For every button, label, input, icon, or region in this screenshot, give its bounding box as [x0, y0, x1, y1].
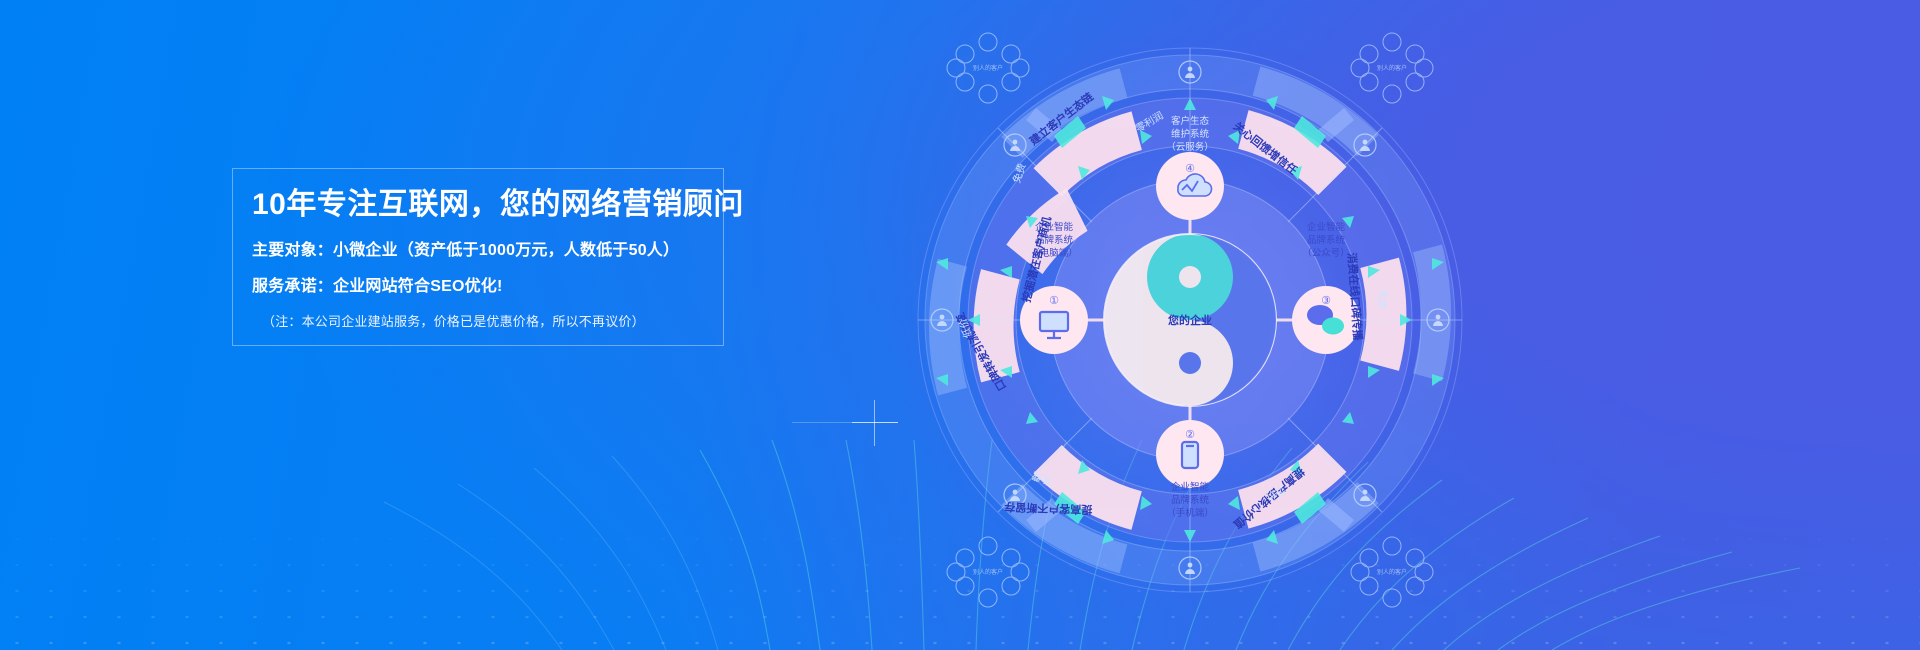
- svg-text:别人的客户: 别人的客户: [1377, 64, 1407, 72]
- target-audience-line: 主要对象：小微企业（资产低于1000万元，人数低于50人）: [252, 240, 722, 262]
- svg-text:③: ③: [1321, 295, 1331, 307]
- price-note: （注：本公司企业建站服务，价格已是优惠价格，所以不再议价）: [262, 313, 722, 331]
- svg-text:④: ④: [1185, 163, 1195, 175]
- promo-copy: 10年专注互联网，您的网络营销顾问 主要对象：小微企业（资产低于1000万元，人…: [252, 186, 722, 331]
- marketing-banner: ① ② ③ ④ 别人的客户: [0, 0, 1920, 650]
- service-promise-line: 服务承诺：企业网站符合SEO优化!: [252, 276, 722, 298]
- svg-text:别人的客户: 别人的客户: [973, 64, 1003, 72]
- marketing-ecosystem-diagram: ① ② ③ ④ 别人的客户: [840, 0, 1540, 650]
- crosshair-horizontal: [852, 422, 898, 423]
- crosshair-lead-line: [792, 422, 852, 423]
- page-title: 10年专注互联网，您的网络营销顾问: [252, 186, 722, 224]
- crosshair-vertical: [874, 400, 875, 446]
- crosshair-marker: [852, 400, 898, 446]
- svg-text:别人的客户: 别人的客户: [973, 568, 1003, 576]
- svg-text:别人的客户: 别人的客户: [1377, 568, 1407, 576]
- svg-text:①: ①: [1049, 295, 1059, 307]
- svg-text:②: ②: [1185, 429, 1195, 441]
